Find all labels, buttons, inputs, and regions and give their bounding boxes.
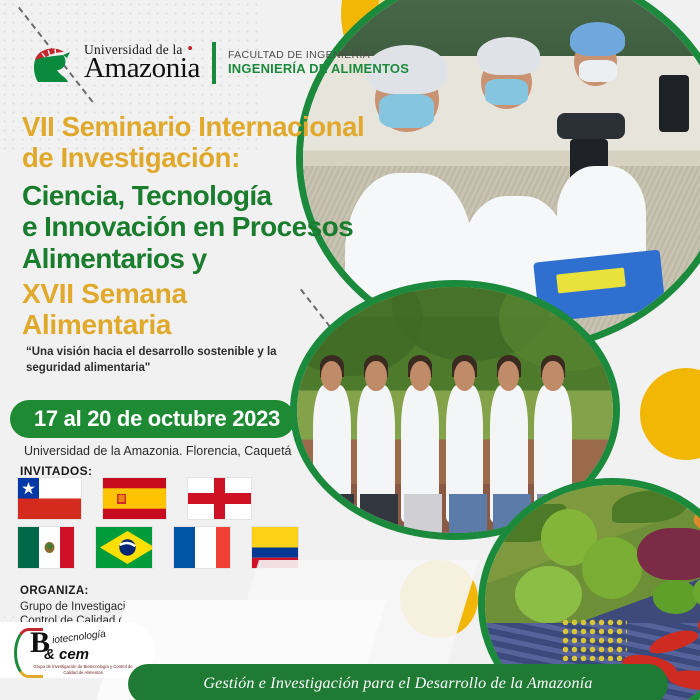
title-green: Ciencia, Tecnología e Innovación en Proc… [22, 180, 472, 274]
title-line-1: VII Seminario Internacional [22, 112, 452, 143]
university-name: Amazonia [84, 54, 200, 83]
title-line-2: de Investigación: [22, 143, 452, 174]
date-badge: 17 al 20 de octubre 2023 [10, 400, 295, 438]
date-range: 17 al 20 de octubre 2023 [34, 406, 280, 432]
amazonia-bird-emblem-icon [32, 43, 78, 83]
event-location: Universidad de la Amazonia. Florencia, C… [24, 444, 292, 458]
logo-word-biotecnologia: iotecnología [52, 629, 107, 646]
title-line-5: Alimentarios y [22, 243, 472, 274]
title-yellow-top: VII Seminario Internacional de Investiga… [22, 112, 452, 174]
logo-divider [212, 42, 216, 84]
flag-england [188, 478, 251, 519]
flag-france [174, 527, 230, 568]
biotecnologia-cecm-logo: B iotecnología & cem Grupo de Investigac… [0, 622, 155, 678]
event-slogan: “Una visión hacia el desarrollo sostenib… [26, 345, 294, 376]
logo-subtitle: Grupo de Investigación de Biotecnología … [28, 664, 138, 675]
title-line-3: Ciencia, Tecnología [22, 180, 472, 211]
title-line-4: e Innovación en Procesos [22, 211, 472, 242]
guests-label: INVITADOS: [20, 464, 92, 478]
flag-mexico [18, 527, 74, 568]
organizer-label: ORGANIZA: [20, 585, 89, 597]
university-logo: Universidad de la • Amazonia FACULTAD DE… [32, 42, 409, 84]
banner-text: Gestión e Investigación para el Desarrol… [203, 675, 592, 693]
yellow-circle-right [640, 368, 700, 460]
flag-brazil [96, 527, 152, 568]
title-line-7: Alimentaria [22, 309, 322, 340]
program-label: INGENIERÍA DE ALIMENTOS [228, 61, 409, 77]
guest-flags [18, 478, 298, 576]
flag-spain [103, 478, 166, 519]
bottom-banner: Gestión e Investigación para el Desarrol… [128, 664, 668, 700]
flag-chile [18, 478, 81, 519]
poster-root: Universidad de la • Amazonia FACULTAD DE… [0, 0, 700, 700]
logo-word-cem: & cem [44, 646, 89, 663]
title-line-6: XVII Semana [22, 278, 322, 309]
faculty-label: FACULTAD DE INGENIERÍA [228, 49, 409, 62]
title-yellow-bottom: XVII Semana Alimentaria [22, 278, 322, 341]
